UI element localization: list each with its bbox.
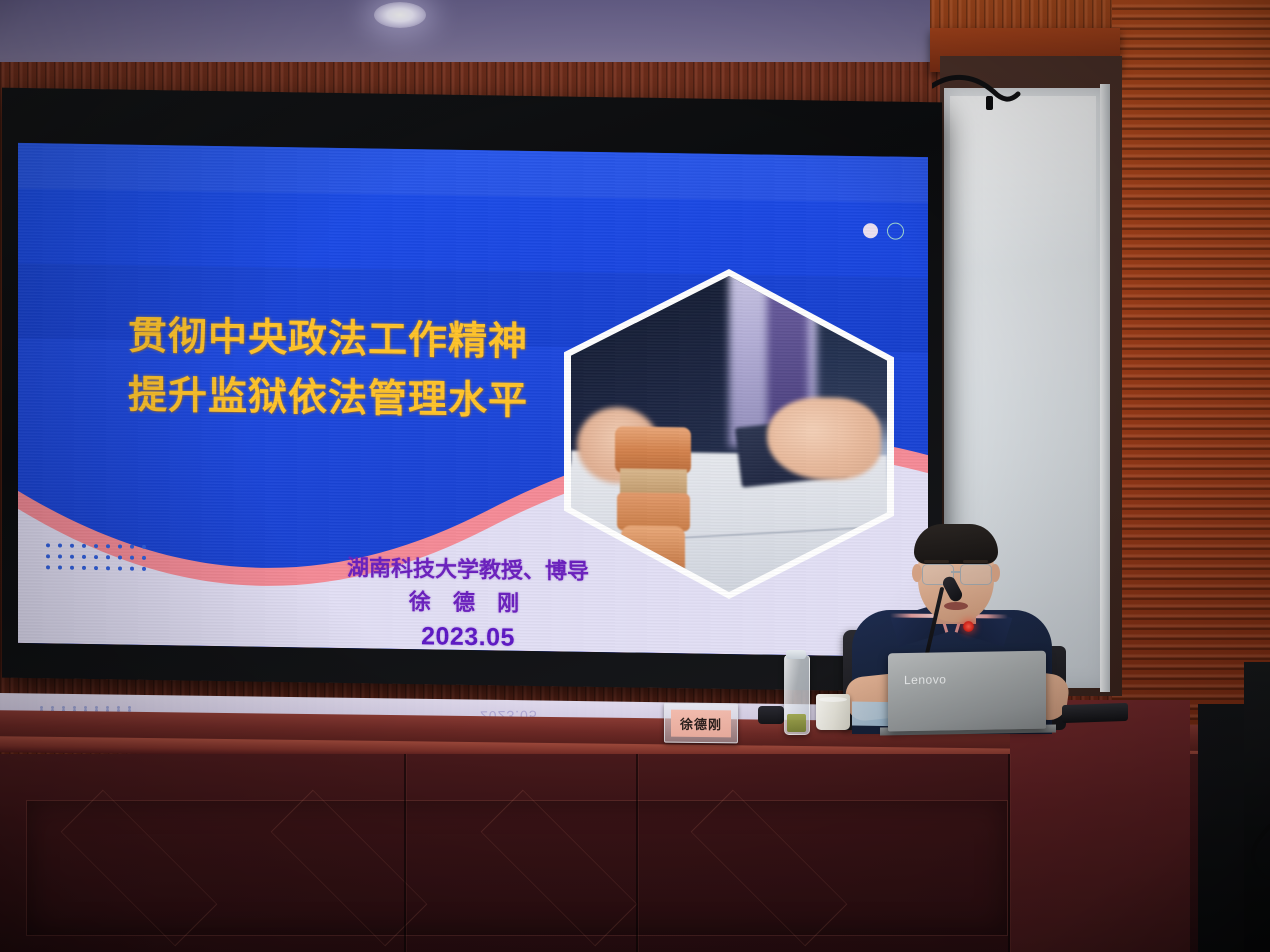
hanging-cable-icon [932, 70, 1052, 112]
slide-decoration-dot-grid [46, 543, 154, 578]
gavel-photo-content [571, 274, 887, 595]
slide-subtitle: 湖南科技大学教授、博导 徐 德 刚 2023.05 [248, 550, 688, 657]
nameplate-text: 徐德刚 [671, 709, 731, 737]
right-equipment-speaker [1244, 662, 1270, 952]
water-bottle-tea-leaves [787, 714, 806, 732]
microphone-led-indicator [963, 621, 974, 632]
speaker-eyebrow-left [924, 560, 949, 563]
slide-title: 贯彻中央政法工作精神 提升监狱依法管理水平 [68, 306, 588, 433]
microphone-base [1062, 703, 1128, 723]
eyeglasses-lens-right-icon [960, 564, 992, 585]
conference-room-photo: 贯彻中央政法工作精神 提升监狱依法管理水平 湖南科技大学教授、博导 徐 德 刚 … [0, 0, 1270, 952]
speaker-hair [914, 524, 998, 564]
desk-front-panel-right [1010, 700, 1190, 952]
desk-panel-seam [1008, 754, 1010, 952]
slide-subtitle-date: 2023.05 [248, 616, 688, 658]
nameplate-holder: 徐德刚 [664, 703, 738, 744]
slide-title-line-1: 贯彻中央政法工作精神 [68, 306, 588, 373]
water-bottle-cap [786, 650, 806, 659]
speaker-mouth [944, 602, 968, 610]
slide-decoration-filled-circle-icon [863, 223, 878, 238]
desk-panel-seam [636, 754, 638, 952]
whiteboard-frame [1100, 84, 1110, 692]
slide-hexagon-photo [564, 266, 894, 601]
water-bottle [784, 655, 810, 735]
ceramic-cup [816, 694, 850, 730]
presentation-screen-bezel: 贯彻中央政法工作精神 提升监狱依法管理水平 湖南科技大学教授、博导 徐 德 刚 … [2, 88, 942, 693]
wood-wall-right-panel [1112, 0, 1270, 740]
ceiling-downlight-icon [374, 2, 426, 28]
desk-small-black-object [758, 706, 784, 724]
slide-decoration-ring-circle-icon [887, 223, 904, 240]
desk-panel-seam [404, 754, 406, 952]
presentation-screen: 贯彻中央政法工作精神 提升监狱依法管理水平 湖南科技大学教授、博导 徐 德 刚 … [18, 143, 928, 657]
speaker-eyebrow-right [963, 560, 988, 563]
laptop-brand-logo: Lenovo [904, 672, 946, 687]
eyeglasses-bridge-icon [951, 571, 961, 573]
laptop: Lenovo [888, 651, 1046, 732]
floor-cable-icon [1186, 824, 1270, 884]
slide-title-line-2: 提升监狱依法管理水平 [68, 365, 588, 432]
speaker-ear-left [912, 564, 922, 582]
